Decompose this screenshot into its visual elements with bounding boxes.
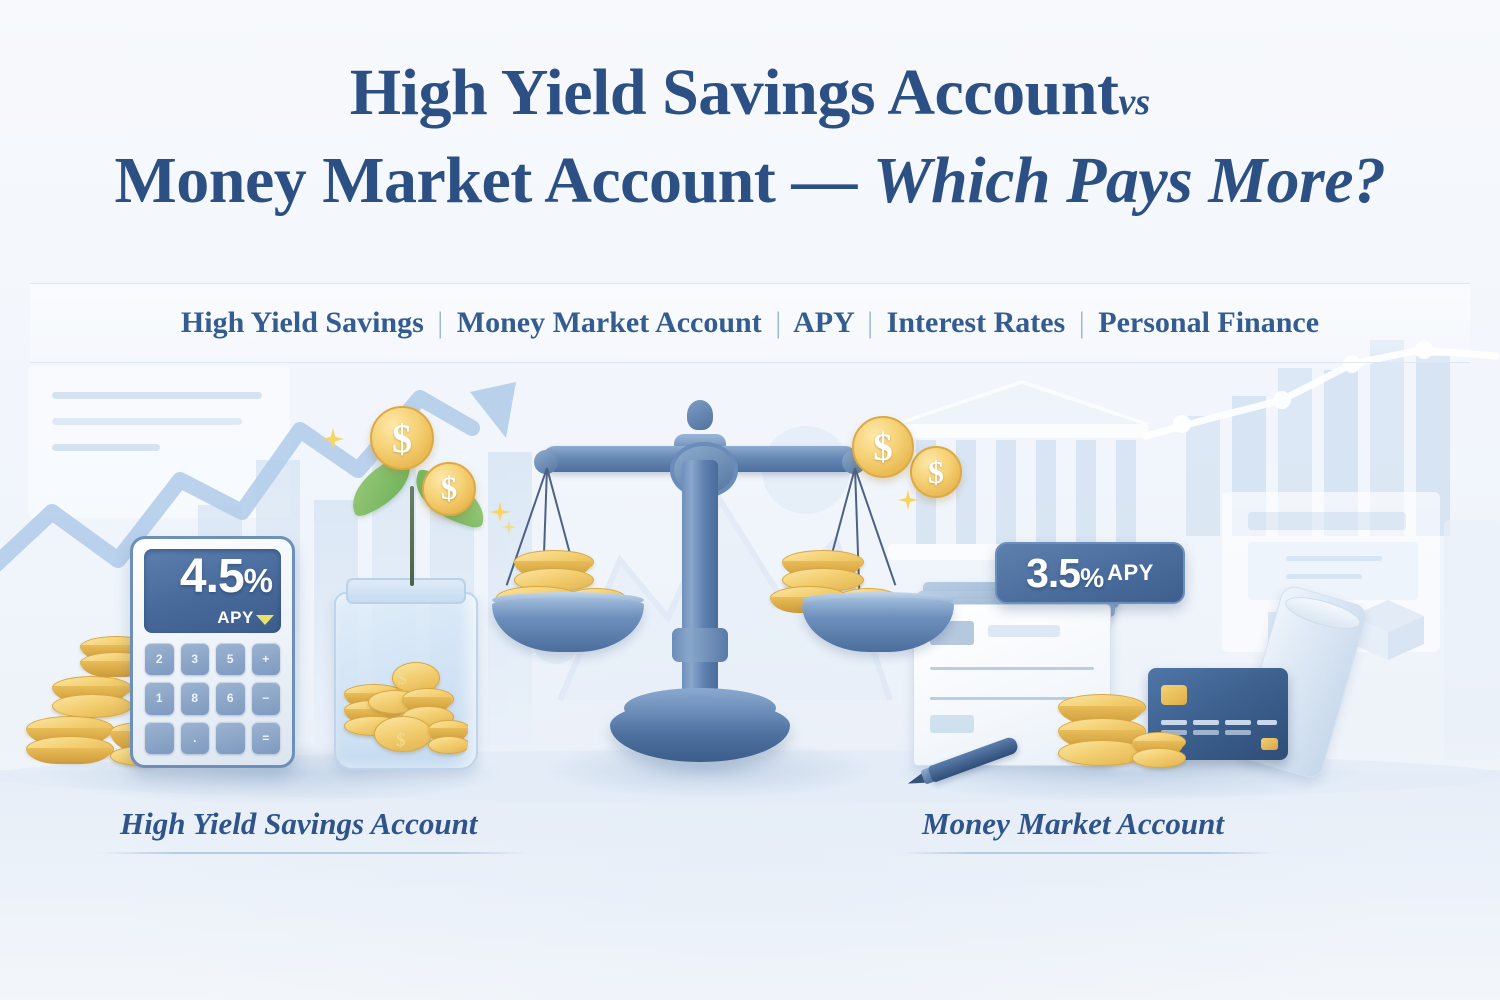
scale-finial — [687, 400, 713, 430]
statement-footer-block — [930, 715, 974, 733]
sparkle-icon — [898, 490, 918, 510]
dollar-coin-icon: $ — [422, 462, 476, 516]
keyword-separator: | — [861, 306, 879, 339]
title-vs: vs — [1119, 81, 1151, 123]
svg-text:$: $ — [398, 669, 407, 688]
dollar-coin-icon: $ — [910, 446, 962, 498]
right-rate-display: 3.5% — [1026, 553, 1103, 594]
calc-key[interactable] — [145, 722, 174, 754]
keyword-item-1: Money Market Account — [457, 306, 762, 339]
keyword-item-3: Interest Rates — [887, 306, 1066, 339]
title-primary: High Yield Savings Account — [350, 56, 1119, 129]
title-question: Which Pays More? — [873, 144, 1386, 217]
page-title-line-1: High Yield Savings Accountvs — [0, 60, 1500, 126]
calc-key[interactable]: − — [252, 682, 281, 714]
card-number-block — [1193, 720, 1219, 725]
calc-key[interactable]: + — [252, 643, 281, 675]
infographic-canvas: High Yield Savings Accountvs Money Marke… — [0, 0, 1500, 1000]
savings-jar: $ $ — [330, 570, 478, 766]
keyword-bar: High Yield Savings | Money Market Accoun… — [30, 283, 1470, 363]
statement-line — [930, 667, 1094, 670]
left-account-label: High Yield Savings Account — [120, 806, 477, 842]
page-header: High Yield Savings Accountvs Money Marke… — [0, 60, 1500, 214]
right-rate-value: 3.5 — [1026, 550, 1080, 596]
calc-key[interactable]: 3 — [181, 643, 210, 675]
apy-badge-body: 3.5% APY — [995, 542, 1185, 604]
card-contactless-icon — [1261, 738, 1278, 750]
title-secondary: Money Market Account — — [114, 144, 872, 217]
chevron-down-icon — [256, 615, 274, 625]
calc-key[interactable]: 1 — [145, 682, 174, 714]
dollar-coin-icon: $ — [370, 406, 434, 470]
statement-line — [988, 625, 1060, 637]
calculator-keypad[interactable]: 2 3 5 + 1 8 6 − . = — [145, 643, 280, 754]
money-market-apy-badge: 3.5% APY — [995, 542, 1185, 604]
calc-key[interactable]: 5 — [216, 643, 245, 675]
keyword-separator: | — [431, 306, 449, 339]
svg-text:$: $ — [396, 730, 406, 751]
right-rate-unit: APY — [1107, 560, 1154, 586]
bg-bar-chart-right — [1186, 340, 1450, 536]
left-rate-unit: APY — [217, 608, 254, 628]
balance-scale — [520, 400, 880, 790]
keyword-item-2: APY — [793, 306, 854, 339]
card-number-block — [1225, 720, 1251, 725]
keyword-list: High Yield Savings | Money Market Accoun… — [181, 306, 1319, 340]
calc-key[interactable]: 8 — [181, 682, 210, 714]
left-label-underline — [98, 852, 528, 854]
calculator-body: 4.5% APY 2 3 5 + 1 8 6 − . = — [130, 536, 295, 768]
right-label-underline — [900, 852, 1278, 854]
calc-key[interactable]: 6 — [216, 682, 245, 714]
jar-coin-fill: $ $ — [340, 654, 468, 758]
right-account-label: Money Market Account — [922, 806, 1224, 842]
calc-key[interactable]: . — [181, 722, 210, 754]
card-number-block — [1257, 720, 1277, 725]
page-title-line-2: Money Market Account — Which Pays More? — [0, 148, 1500, 214]
scale-pan-left — [492, 598, 644, 652]
sparkle-icon — [322, 428, 344, 450]
bg-document-left — [28, 366, 290, 518]
calculator-display: 4.5% APY — [144, 549, 281, 633]
keyword-item-0: High Yield Savings — [181, 306, 424, 339]
calc-key[interactable]: 2 — [145, 643, 174, 675]
plant-stem — [410, 486, 414, 586]
card-number-block — [1193, 730, 1219, 735]
scale-collar — [672, 628, 728, 662]
calc-key[interactable]: = — [252, 722, 281, 754]
left-rate-display: 4.5% — [144, 553, 272, 605]
keyword-separator: | — [1073, 306, 1091, 339]
card-number-block — [1225, 730, 1251, 735]
keyword-separator: | — [769, 306, 787, 339]
calculator-4-5-apy[interactable]: 4.5% APY 2 3 5 + 1 8 6 − . = — [130, 536, 295, 768]
left-rate-value: 4.5 — [180, 550, 244, 603]
percent-sign: % — [1080, 563, 1103, 593]
calc-key[interactable] — [216, 722, 245, 754]
coin-stack-right — [1058, 694, 1178, 772]
scale-base — [610, 700, 790, 762]
keyword-item-4: Personal Finance — [1098, 306, 1319, 339]
scale-column — [682, 460, 718, 720]
percent-sign: % — [244, 562, 272, 599]
dollar-coin-icon: $ — [852, 416, 914, 478]
